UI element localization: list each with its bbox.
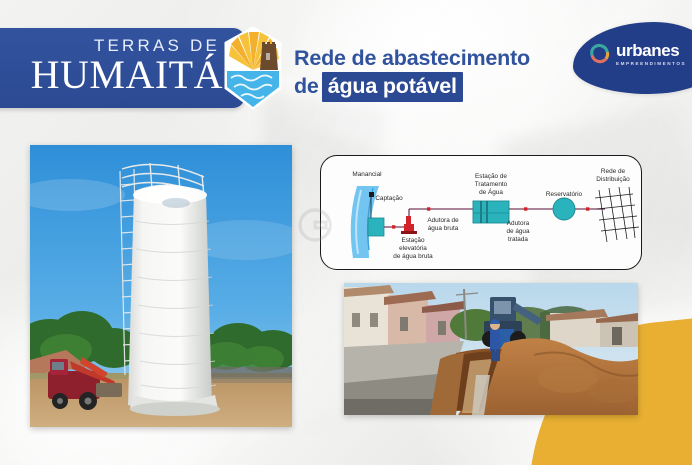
water-supply-system-diagram: Manancial Captação Estação elevatória de…	[320, 155, 642, 270]
photo-pipe-trench	[344, 283, 638, 415]
urbanes-logo[interactable]: urbanes EMPREENDIMENTOS	[573, 22, 692, 94]
urbanes-arc-icon	[589, 43, 611, 65]
diagram-label-adutora-agua-tratada: Adutora de água tratada	[496, 220, 540, 244]
page-title: Rede de abastecimento deágua potável	[294, 45, 564, 102]
diagram-label-adutora-agua-bruta: Adutora de água bruta	[419, 217, 467, 233]
brand-banner: TERRAS DE HUMAITÁ	[0, 28, 245, 108]
slide-canvas: TERRAS DE HUMAITÁ	[0, 0, 692, 465]
brand-text-block: TERRAS DE HUMAITÁ	[31, 35, 223, 97]
headline-prefix: de	[294, 74, 319, 98]
diagram-label-eta: Estação de Tratamento de Água	[462, 173, 520, 197]
headline-line-2: deágua potável	[294, 72, 564, 102]
diagram-label-reservatorio: Reservatório	[535, 191, 593, 199]
diagram-label-manancial: Manancial	[339, 171, 395, 179]
urbanes-name: urbanes	[616, 41, 679, 60]
brand-line-humaita: HUMAITÁ	[31, 53, 223, 97]
diagram-label-estacao-elevatoria: Estação elevatória de água bruta	[379, 237, 447, 261]
photo-water-tower	[30, 145, 292, 427]
urbanes-wordmark: urbanes EMPREENDIMENTOS	[616, 42, 686, 67]
urbanes-tagline: EMPREENDIMENTOS	[616, 62, 686, 67]
headline-highlight: água potável	[322, 72, 463, 102]
humaita-crest-icon	[222, 26, 284, 110]
diagram-label-rede-distribuicao: Rede de Distribuição	[585, 168, 641, 184]
urbanes-logo-content: urbanes EMPREENDIMENTOS	[589, 42, 686, 67]
diagram-label-captacao: Captação	[365, 195, 413, 203]
headline-line-1: Rede de abastecimento	[294, 45, 564, 72]
